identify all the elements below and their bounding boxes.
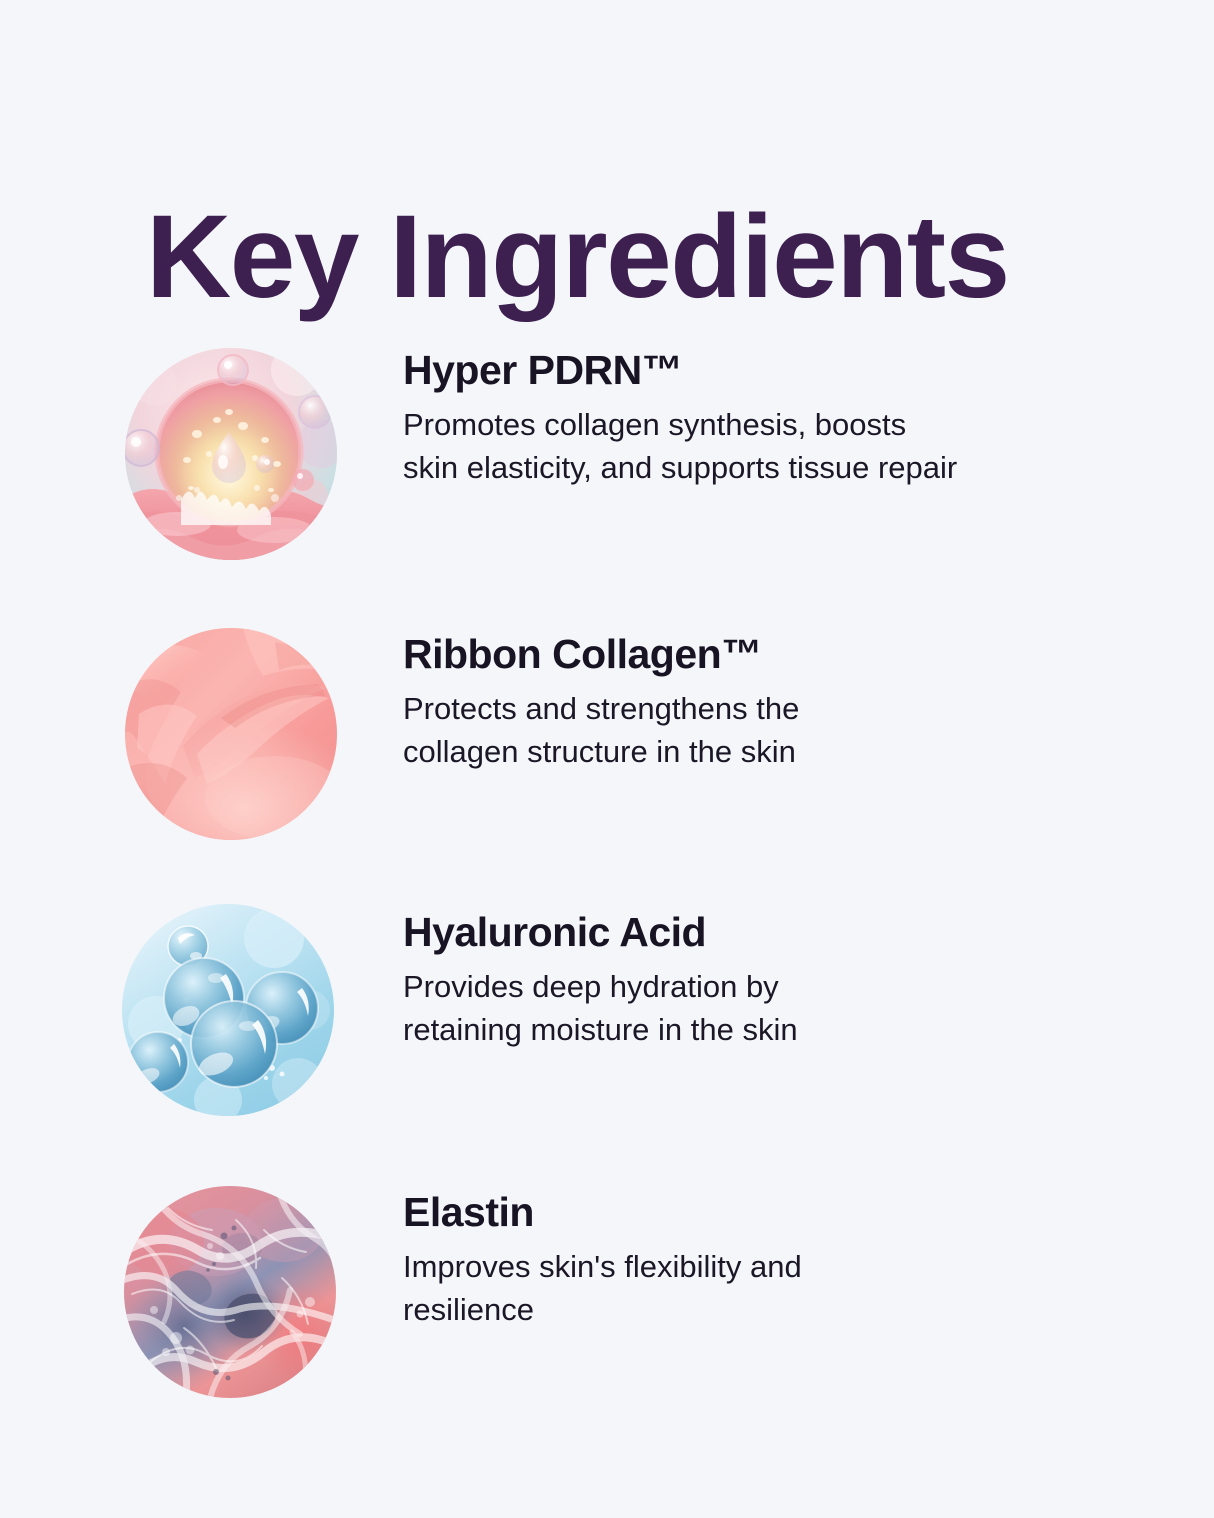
page-title: Key Ingredients: [146, 197, 1086, 317]
ingredient-text-block: Hyper PDRN™ Promotes collagen synthesis,…: [403, 348, 1103, 489]
list-item: Ribbon Collagen™ Protects and strengthen…: [0, 612, 1214, 892]
ingredient-list: Hyper PDRN™ Promotes collagen synthesis,…: [0, 332, 1214, 1452]
elastin-fiber-network-image: [124, 1186, 336, 1398]
ingredient-text-block: Hyaluronic Acid Provides deep hydration …: [403, 910, 1103, 1051]
list-item: Hyaluronic Acid Provides deep hydration …: [0, 892, 1214, 1172]
ingredient-description: Provides deep hydration by retaining moi…: [403, 966, 1103, 1052]
ingredient-description: Improves skin's flexibility and resilien…: [403, 1246, 1103, 1332]
list-item: Hyper PDRN™ Promotes collagen synthesis,…: [0, 332, 1214, 612]
blue-water-bubbles-image: [122, 904, 334, 1116]
ingredient-thumbnail-wrap: [125, 348, 337, 560]
ingredient-description: Protects and strengthens the collagen st…: [403, 688, 1103, 774]
ingredient-name: Elastin: [403, 1190, 1103, 1236]
ingredient-name: Hyaluronic Acid: [403, 910, 1103, 956]
ingredient-thumbnail-wrap: [124, 1186, 336, 1398]
pink-silk-ribbon-image: [125, 628, 337, 840]
ingredient-thumbnail-wrap: [122, 904, 334, 1116]
ingredient-thumbnail-wrap: [125, 628, 337, 840]
ingredient-description: Promotes collagen synthesis, boosts skin…: [403, 404, 1103, 490]
pink-golden-bubble-droplet-image: [125, 348, 337, 560]
ingredient-name: Ribbon Collagen™: [403, 632, 1103, 678]
ingredient-name: Hyper PDRN™: [403, 348, 1103, 394]
list-item: Elastin Improves skin's flexibility and …: [0, 1172, 1214, 1452]
ingredient-text-block: Ribbon Collagen™ Protects and strengthen…: [403, 632, 1103, 773]
ingredient-text-block: Elastin Improves skin's flexibility and …: [403, 1190, 1103, 1331]
key-ingredients-page: Key Ingredients: [0, 0, 1214, 1518]
